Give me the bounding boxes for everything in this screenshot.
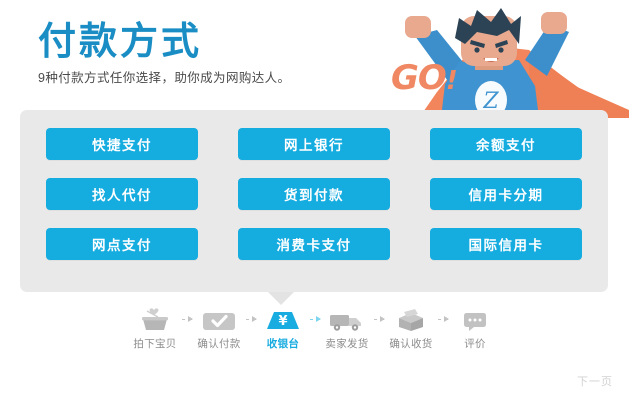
- step-label: 评价: [464, 336, 486, 351]
- header: 付款方式 9种付款方式任你选择，助你成为网购达人。: [38, 20, 398, 87]
- panel-pointer-arrow: [268, 292, 294, 305]
- delivery-truck-icon: [329, 306, 365, 332]
- go-label: GO: [391, 58, 446, 98]
- step-connector: [438, 306, 448, 332]
- page-title: 付款方式: [38, 20, 398, 64]
- pay-gift-card[interactable]: 消费卡支付: [238, 228, 390, 260]
- pay-online-bank[interactable]: 网上银行: [238, 128, 390, 160]
- go-text: GO!: [391, 58, 457, 98]
- payment-methods-panel: 快捷支付 网上银行 余额支付 找人代付 货到付款 信用卡分期 网点支付 消费卡支…: [20, 110, 608, 292]
- shopping-basket-heart-icon: [140, 306, 170, 332]
- pay-balance[interactable]: 余额支付: [430, 128, 582, 160]
- step-confirm-receipt[interactable]: 确认收货: [384, 306, 438, 351]
- step-cashier[interactable]: ¥ 收银台: [256, 306, 310, 351]
- pay-branch[interactable]: 网点支付: [46, 228, 198, 260]
- svg-text:¥: ¥: [278, 314, 287, 329]
- step-label: 拍下宝贝: [133, 336, 176, 351]
- speech-bubble-icon: [462, 306, 488, 332]
- step-label: 卖家发货: [325, 336, 368, 351]
- cashier-counter-yen-icon: ¥: [265, 306, 301, 332]
- page-subtitle: 9种付款方式任你选择，助你成为网购达人。: [38, 69, 398, 87]
- step-connector: [182, 306, 192, 332]
- open-box-icon: [395, 306, 427, 332]
- step-review[interactable]: 评价: [448, 306, 502, 351]
- pay-credit-installment[interactable]: 信用卡分期: [430, 178, 582, 210]
- pay-cash-on-delivery[interactable]: 货到付款: [238, 178, 390, 210]
- pay-quick[interactable]: 快捷支付: [46, 128, 198, 160]
- check-badge-icon: [202, 306, 236, 332]
- step-confirm-payment[interactable]: 确认付款: [192, 306, 246, 351]
- slide-root: Z GO! 付款方式 9种付款方式任你选择，助你成为网购达人。 快捷支: [0, 0, 629, 400]
- step-connector: [310, 306, 320, 332]
- step-label: 确认收货: [389, 336, 432, 351]
- hero-illustration: Z GO!: [379, 0, 629, 118]
- pay-by-friend[interactable]: 找人代付: [46, 178, 198, 210]
- order-flow-steps: 拍下宝贝 确认付款 ¥ 收银台: [128, 306, 502, 362]
- step-label: 确认付款: [197, 336, 240, 351]
- step-connector: [246, 306, 256, 332]
- go-exclamation: !: [446, 66, 457, 96]
- payment-methods-grid: 快捷支付 网上银行 余额支付 找人代付 货到付款 信用卡分期 网点支付 消费卡支…: [46, 128, 582, 260]
- step-seller-ship[interactable]: 卖家发货: [320, 306, 374, 351]
- next-page-link[interactable]: 下一页: [577, 373, 613, 389]
- step-connector: [374, 306, 384, 332]
- pay-intl-credit-card[interactable]: 国际信用卡: [430, 228, 582, 260]
- step-label: 收银台: [267, 336, 299, 351]
- step-place-order[interactable]: 拍下宝贝: [128, 306, 182, 351]
